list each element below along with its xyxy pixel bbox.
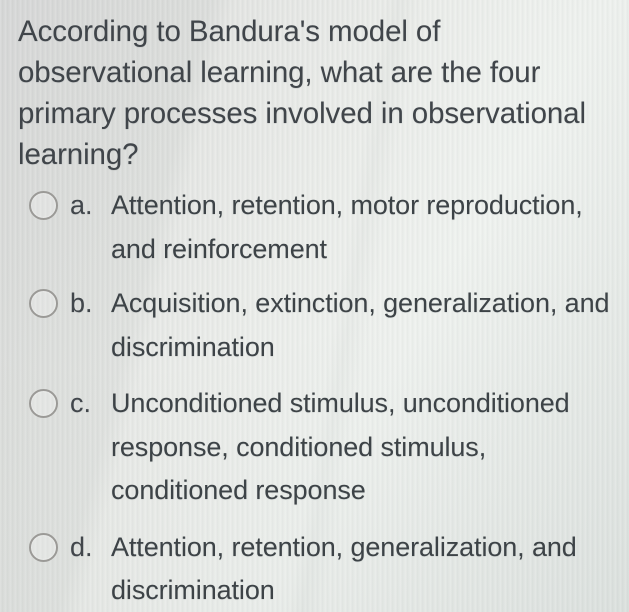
- question-text: According to Bandura's model of observat…: [18, 11, 618, 175]
- answer-options-list: a. Attention, retention, motor reproduct…: [0, 184, 629, 612]
- option-letter-b: b.: [70, 282, 111, 326]
- radio-unchecked-icon[interactable]: [29, 289, 58, 318]
- option-text-a: Attention, retention, motor reproduction…: [111, 184, 629, 271]
- option-text-b: Acquisition, extinction, generalization,…: [111, 282, 629, 369]
- radio-unchecked-icon[interactable]: [29, 389, 58, 418]
- option-letter-c: c.: [70, 382, 111, 426]
- answer-option-b[interactable]: b. Acquisition, extinction, generalizati…: [0, 282, 629, 376]
- answer-option-c[interactable]: c. Unconditioned stimulus, unconditioned…: [0, 382, 629, 520]
- option-letter-d: d.: [70, 526, 111, 570]
- quiz-question-screen: According to Bandura's model of observat…: [0, 0, 629, 612]
- answer-option-d[interactable]: d. Attention, retention, generalization,…: [0, 526, 629, 612]
- radio-unchecked-icon[interactable]: [29, 191, 58, 220]
- radio-unchecked-icon[interactable]: [29, 533, 58, 562]
- answer-option-a[interactable]: a. Attention, retention, motor reproduct…: [0, 184, 629, 278]
- option-letter-a: a.: [70, 184, 111, 228]
- option-text-c: Unconditioned stimulus, unconditioned re…: [111, 382, 629, 513]
- option-text-d: Attention, retention, generalization, an…: [111, 526, 629, 612]
